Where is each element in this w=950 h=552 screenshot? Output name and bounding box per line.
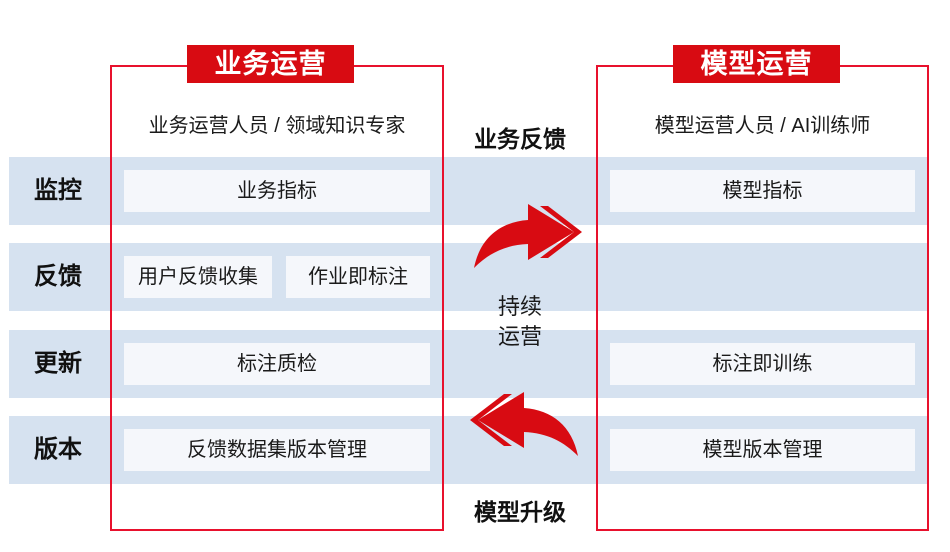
center-label-business-feedback: 业务反馈 bbox=[444, 120, 596, 154]
card-business-metrics[interactable]: 业务指标 bbox=[124, 170, 430, 212]
center-label-continuous-operation: 持续 运营 bbox=[444, 292, 596, 352]
card-annotation-qc[interactable]: 标注质检 bbox=[124, 343, 430, 385]
role-label-business: 业务运营人员 / 领域知识专家 bbox=[112, 104, 442, 148]
arrow-left-icon bbox=[470, 388, 582, 460]
row-label-feedback: 反馈 bbox=[9, 243, 107, 311]
card-user-feedback-collect[interactable]: 用户反馈收集 bbox=[124, 256, 272, 298]
role-label-model: 模型运营人员 / AI训练师 bbox=[598, 104, 927, 148]
arrow-right-icon bbox=[470, 200, 582, 272]
title-banner-business-operations: 业务运营 bbox=[187, 45, 354, 83]
diagram-canvas: 监控 反馈 更新 版本 业务运营 模型运营 业务运营人员 / 领域知识专家 模型… bbox=[0, 0, 950, 552]
card-model-version-management[interactable]: 模型版本管理 bbox=[610, 429, 915, 471]
row-label-update: 更新 bbox=[9, 330, 107, 398]
row-label-version: 版本 bbox=[9, 416, 107, 484]
row-label-monitor: 监控 bbox=[9, 157, 107, 225]
center-label-model-upgrade: 模型升级 bbox=[444, 493, 596, 527]
card-model-metrics[interactable]: 模型指标 bbox=[610, 170, 915, 212]
card-work-as-annotation[interactable]: 作业即标注 bbox=[286, 256, 430, 298]
card-annotation-as-training[interactable]: 标注即训练 bbox=[610, 343, 915, 385]
card-feedback-dataset-version[interactable]: 反馈数据集版本管理 bbox=[124, 429, 430, 471]
title-banner-model-operations: 模型运营 bbox=[673, 45, 840, 83]
continuous-operation-line2: 运营 bbox=[444, 322, 596, 352]
continuous-operation-line1: 持续 bbox=[444, 292, 596, 322]
